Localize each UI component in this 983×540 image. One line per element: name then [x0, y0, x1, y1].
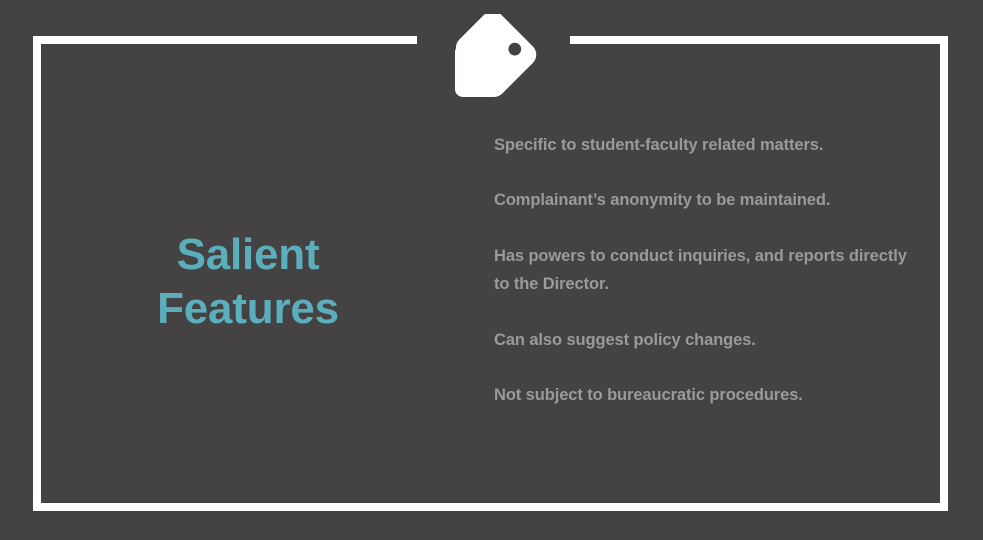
- page-title: Salient Features: [80, 228, 416, 335]
- slide-content: Salient Features Specific to student-fac…: [0, 0, 983, 540]
- list-item: Can also suggest policy changes.: [494, 326, 926, 354]
- slide-canvas: Salient Features Specific to student-fac…: [0, 0, 983, 540]
- page-title-line-1: Salient: [80, 228, 416, 282]
- list-item: Not subject to bureaucratic procedures.: [494, 381, 926, 409]
- bullet-list: Specific to student-faculty related matt…: [494, 131, 926, 409]
- page-title-line-2: Features: [80, 282, 416, 336]
- list-item: Complainant’s anonymity to be maintained…: [494, 186, 926, 214]
- list-item: Specific to student-faculty related matt…: [494, 131, 926, 159]
- list-item: Has powers to conduct inquiries, and rep…: [494, 242, 926, 299]
